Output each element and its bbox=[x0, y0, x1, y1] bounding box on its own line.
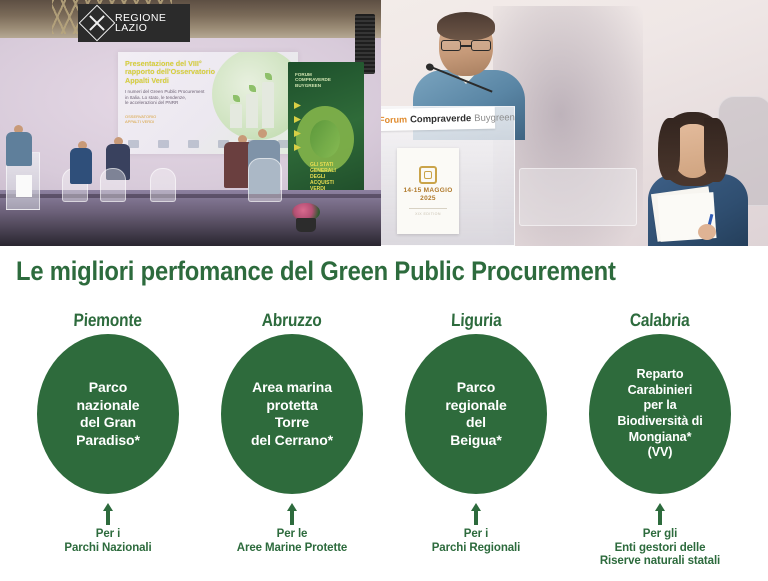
performance-cards: Piemonte Parco nazionale del Gran Paradi… bbox=[0, 310, 768, 581]
photo-conference-stage: REGIONE LAZIO Presentazione del VIII° ra… bbox=[0, 0, 381, 246]
entity-bubble: Area marina protetta Torre del Cerrano* bbox=[221, 334, 363, 494]
panelist-head bbox=[258, 129, 267, 138]
regione-lazio-sign-text: REGIONE LAZIO bbox=[115, 13, 190, 33]
glasses-icon bbox=[441, 40, 491, 51]
entity-bubble: Parco nazionale del Gran Paradiso* bbox=[37, 334, 179, 494]
poster-date-text: 14-15 MAGGIO 2025 bbox=[397, 187, 459, 202]
screen-bar-2 bbox=[246, 94, 258, 128]
podium-sign-compraverde: Compraverde bbox=[410, 113, 471, 125]
regione-lazio-sign: REGIONE LAZIO bbox=[78, 4, 190, 42]
regione-lazio-logo-icon bbox=[79, 5, 116, 42]
entity-label: Reparto Carabinieri per la Biodiversità … bbox=[617, 367, 702, 461]
region-label: Piemonte bbox=[73, 310, 142, 331]
card-liguria: Liguria Parco regionale del Beigua* Per … bbox=[392, 310, 560, 581]
sponsor-logo bbox=[188, 140, 199, 148]
podium-card bbox=[16, 175, 32, 197]
screen-sprout-1 bbox=[233, 95, 240, 102]
screen-bar-1 bbox=[230, 104, 242, 128]
entity-label: Area marina protetta Torre del Cerrano* bbox=[251, 379, 333, 449]
photo-speaker-podium: Forum Compraverde Buygreen 14-15 MAGGIO … bbox=[381, 0, 768, 246]
banner-chevron-icon bbox=[294, 102, 301, 109]
screen-sprout-2 bbox=[249, 85, 256, 92]
podium-sign-forum: Forum bbox=[381, 114, 407, 125]
panelist-body bbox=[6, 132, 32, 166]
banner-title-text: FORUM COMPRAVERDE BUYGREEN bbox=[295, 72, 331, 88]
poster-emblem-icon bbox=[419, 166, 437, 184]
seated-person bbox=[646, 112, 750, 246]
panelist-body bbox=[70, 148, 92, 184]
stage-edge bbox=[0, 194, 381, 198]
stage-chair bbox=[248, 158, 282, 202]
stage-floor bbox=[0, 190, 381, 246]
page-title: Le migliori perfomance del Green Public … bbox=[16, 256, 616, 287]
projection-screen: Presentazione del VIII° rapporto dell'Os… bbox=[118, 52, 298, 154]
category-caption: Per i Parchi Regionali bbox=[432, 528, 521, 555]
seated-person-hair-left bbox=[658, 118, 680, 180]
seated-person-hair-right bbox=[704, 118, 728, 182]
podium-sign: Forum Compraverde Buygreen bbox=[381, 107, 495, 132]
plant-pot bbox=[296, 218, 316, 232]
poster-edition-text: XIX EDITION bbox=[415, 212, 441, 216]
region-label: Calabria bbox=[630, 310, 691, 331]
poster-divider bbox=[409, 208, 447, 209]
arrow-up-icon bbox=[287, 503, 297, 525]
category-caption: Per i Parchi Nazionali bbox=[64, 528, 151, 555]
entity-bubble: Reparto Carabinieri per la Biodiversità … bbox=[589, 334, 731, 494]
banner-subtitle-text: GLI STATI GENERALI DEGLI ACQUISTI VERDI bbox=[310, 162, 336, 192]
stage-chair bbox=[150, 168, 176, 202]
podium-sign-buygreen: Buygreen bbox=[474, 112, 515, 124]
entity-bubble: Parco regionale del Beigua* bbox=[405, 334, 547, 494]
stage-plant bbox=[292, 202, 320, 232]
arrow-up-icon bbox=[655, 503, 665, 525]
bench bbox=[519, 168, 637, 226]
speaker-hair bbox=[437, 12, 495, 40]
screen-subtitle-text: I numeri del Green Public Procurement in… bbox=[125, 89, 225, 106]
stage-chair bbox=[100, 168, 126, 202]
screen-sprout-3 bbox=[265, 73, 272, 80]
region-label: Liguria bbox=[450, 310, 501, 331]
region-label: Abruzzo bbox=[262, 310, 323, 331]
card-calabria: Calabria Reparto Carabinieri per la Biod… bbox=[576, 310, 744, 581]
event-poster: 14-15 MAGGIO 2025 XIX EDITION bbox=[397, 148, 459, 234]
sponsor-logo bbox=[158, 140, 169, 148]
category-caption: Per le Aree Marine Protette bbox=[237, 528, 347, 555]
card-piemonte: Piemonte Parco nazionale del Gran Paradi… bbox=[24, 310, 192, 581]
entity-label: Parco regionale del Beigua* bbox=[445, 379, 506, 449]
card-abruzzo: Abruzzo Area marina protetta Torre del C… bbox=[208, 310, 376, 581]
arrow-up-icon bbox=[103, 503, 113, 525]
entity-label: Parco nazionale del Gran Paradiso* bbox=[76, 379, 140, 449]
arrow-up-icon bbox=[471, 503, 481, 525]
screen-bar-3 bbox=[262, 82, 274, 128]
seated-person-hand bbox=[698, 224, 716, 240]
category-caption: Per gli Enti gestori delle Riserve natur… bbox=[600, 528, 720, 569]
photo-strip: REGIONE LAZIO Presentazione del VIII° ra… bbox=[0, 0, 768, 246]
